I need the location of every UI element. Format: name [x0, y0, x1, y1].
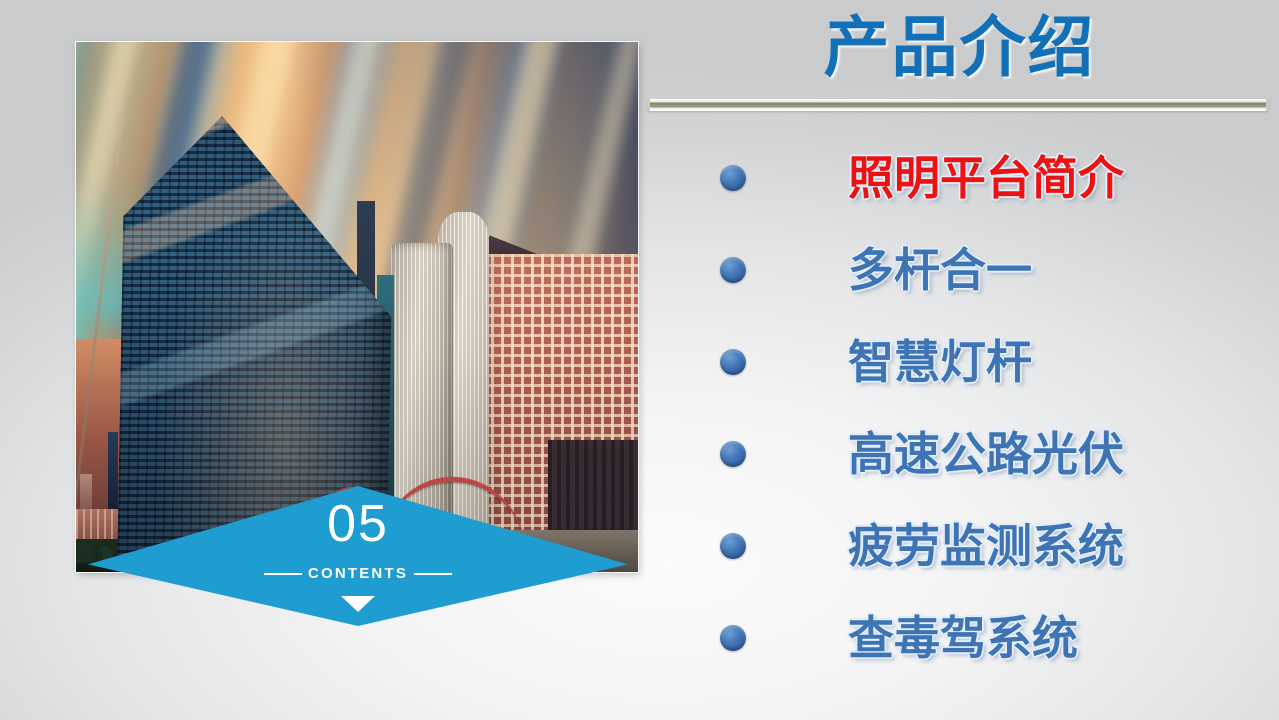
blue-dot-icon [720, 533, 746, 559]
list-item-label: 照明平台简介 [848, 155, 1124, 201]
contents-label: CONTENTS [308, 565, 408, 582]
list-item[interactable]: 查毒驾系统 [648, 592, 1279, 684]
presentation-slide: 05 CONTENTS 产品介绍 照明平台简介 多杆合一 智慧灯杆 高速公路光伏… [0, 0, 1279, 720]
blue-dot-icon [720, 625, 746, 651]
list-item[interactable]: 高速公路光伏 [648, 408, 1279, 500]
list-item[interactable]: 照明平台简介 [648, 132, 1279, 224]
contents-label-row: CONTENTS [88, 565, 628, 582]
page-title: 产品介绍 [640, 10, 1279, 86]
list-item[interactable]: 智慧灯杆 [648, 316, 1279, 408]
blue-dot-icon [720, 441, 746, 467]
blue-dot-icon [720, 165, 746, 191]
list-item[interactable]: 疲劳监测系统 [648, 500, 1279, 592]
list-item-label: 多杆合一 [848, 247, 1032, 293]
title-divider [648, 99, 1268, 111]
blue-dot-icon [720, 349, 746, 375]
list-item[interactable]: 多杆合一 [648, 224, 1279, 316]
section-number: 05 [88, 498, 628, 550]
down-caret [88, 596, 628, 612]
list-item-label: 智慧灯杆 [848, 339, 1032, 385]
contents-rule-right [414, 573, 452, 575]
agenda-list: 照明平台简介 多杆合一 智慧灯杆 高速公路光伏 疲劳监测系统 查毒驾系统 [648, 132, 1279, 684]
list-item-label: 疲劳监测系统 [848, 523, 1124, 569]
list-item-label: 查毒驾系统 [848, 615, 1078, 661]
blue-dot-icon [720, 257, 746, 283]
contents-rule-left [264, 573, 302, 575]
caret-down-icon [341, 596, 375, 612]
list-item-label: 高速公路光伏 [848, 431, 1124, 477]
